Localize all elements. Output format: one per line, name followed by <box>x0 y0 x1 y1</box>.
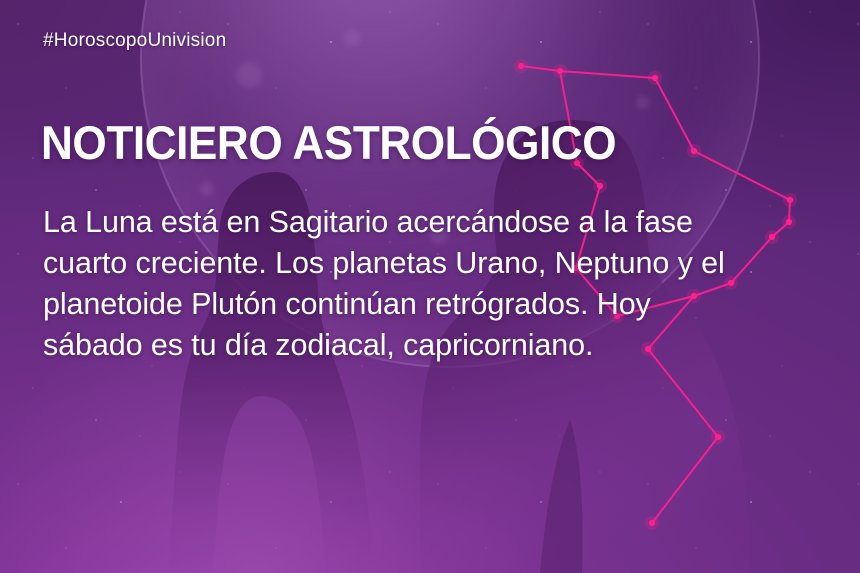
constellation-line <box>652 437 718 523</box>
horoscope-body-line: planetoide Plutón continúan retrógrados.… <box>43 287 651 321</box>
hashtag-label: #HoroscopoUnivision <box>43 30 226 52</box>
constellation-star <box>715 434 721 440</box>
constellation-star <box>652 75 658 81</box>
constellation-star <box>691 148 697 154</box>
horoscope-body-text: La Luna está en Sagitario acercándose a … <box>43 202 773 366</box>
constellation-star <box>649 520 655 526</box>
constellation-star <box>597 183 603 189</box>
horoscope-body-line: cuarto creciente. Los planetas Urano, Ne… <box>43 246 725 280</box>
horoscope-body-line: La Luna está en Sagitario acercándose a … <box>43 205 693 239</box>
page-title: NOTICIERO ASTROLÓGICO <box>41 117 616 169</box>
horoscope-card: #HoroscopoUnivision NOTICIERO ASTROLÓGIC… <box>0 0 860 573</box>
constellation-star <box>518 63 524 69</box>
constellation-star <box>786 219 792 225</box>
constellation-star <box>787 197 793 203</box>
horoscope-body-line: sábado es tu día zodiacal, capricorniano… <box>43 328 593 362</box>
constellation-star <box>557 68 563 74</box>
constellation-line <box>655 78 694 151</box>
constellation-line <box>694 151 790 200</box>
constellation-line <box>560 71 655 78</box>
